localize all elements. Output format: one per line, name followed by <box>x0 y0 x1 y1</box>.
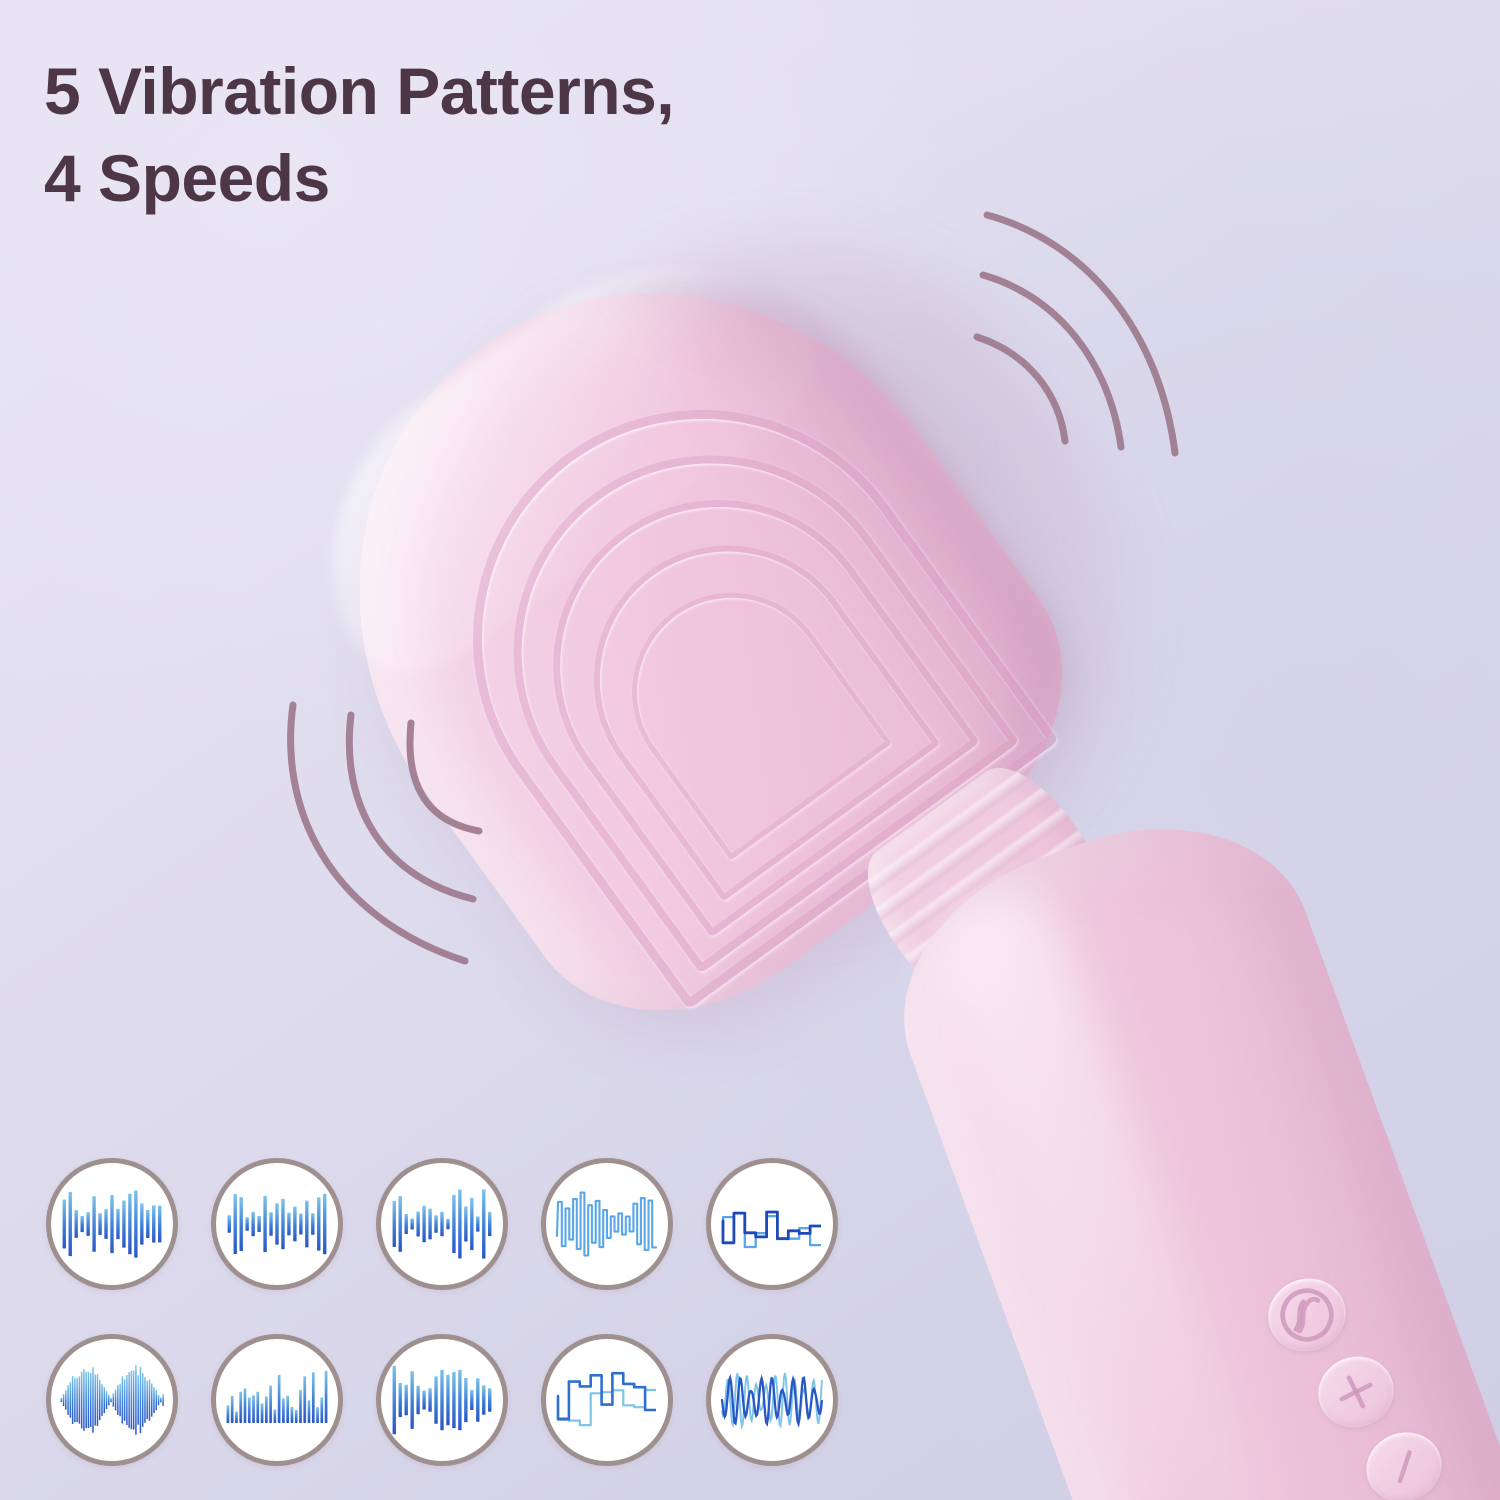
pattern-icon-1[interactable] <box>46 1158 178 1290</box>
pattern-icon-9[interactable] <box>541 1334 673 1466</box>
bars-baseline-icon <box>225 1363 329 1437</box>
pattern-icon-10[interactable] <box>706 1334 838 1466</box>
pattern-icon-7[interactable] <box>211 1334 343 1466</box>
vibration-pattern-icon-grid <box>46 1158 838 1466</box>
dual-square-wave-icon <box>555 1363 659 1437</box>
pattern-icon-6[interactable] <box>46 1334 178 1466</box>
bars-center-icon <box>225 1187 329 1261</box>
pattern-icon-3[interactable] <box>376 1158 508 1290</box>
bars-center-icon <box>60 1187 164 1261</box>
product-feature-banner: 5 Vibration Patterns, 4 Speeds <box>0 0 1500 1500</box>
square-wave-icon <box>720 1187 824 1261</box>
dense-envelope-icon <box>60 1363 164 1437</box>
bars-center-icon <box>390 1363 494 1437</box>
handle-highlight <box>924 877 1289 1500</box>
page-title: 5 Vibration Patterns, 4 Speeds <box>44 48 1044 222</box>
pattern-icon-4[interactable] <box>541 1158 673 1290</box>
bars-center-icon <box>390 1187 494 1261</box>
dual-sine-wave-icon <box>720 1363 824 1437</box>
pattern-icon-5[interactable] <box>706 1158 838 1290</box>
wave-outline-icon <box>555 1187 659 1261</box>
pattern-icon-8[interactable] <box>376 1334 508 1466</box>
pattern-icon-2[interactable] <box>211 1158 343 1290</box>
